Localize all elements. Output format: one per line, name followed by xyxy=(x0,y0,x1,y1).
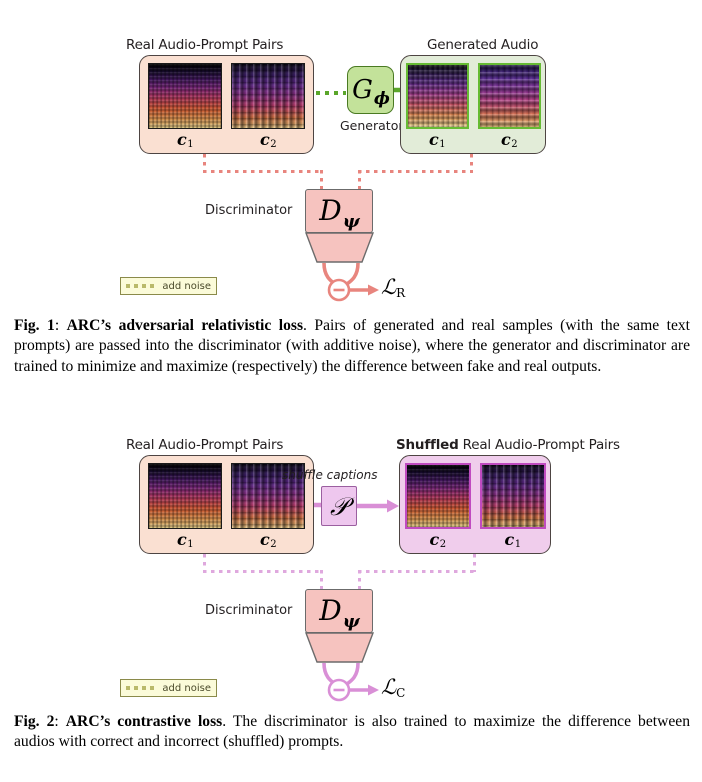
fig2-shuffle-captions-label: shuffle captions xyxy=(282,468,377,482)
generator-glyph: Gϕ xyxy=(352,77,389,103)
fig1-connector-left-rail xyxy=(203,170,323,173)
fig1-real-cell-2: c2 xyxy=(231,63,305,148)
spectrogram-icon xyxy=(148,463,222,529)
fig1-legend-text: add noise xyxy=(162,281,211,292)
fig1-generator-caption: Generator xyxy=(340,118,403,133)
fig2-permute-output-arrow xyxy=(357,498,403,514)
figure-2-caption: Fig. 2: ARC’s contrastive loss. The disc… xyxy=(14,712,690,753)
fig1-generated-cell-2-label: c2 xyxy=(501,132,517,148)
fig2-loss-operator xyxy=(325,678,385,702)
spectrogram-icon xyxy=(148,63,222,129)
fig1-discriminator-funnel xyxy=(300,232,380,264)
spectrogram-icon xyxy=(406,63,469,129)
fig2-add-noise-legend: add noise xyxy=(120,679,217,697)
figure-1-caption: Fig. 1: ARC’s adversarial relativistic l… xyxy=(14,316,690,377)
fig1-generated-cell-1-label: c1 xyxy=(429,132,445,148)
fig2-permute-box: 𝒫 xyxy=(321,486,357,526)
fig1-generator-box: Gϕ xyxy=(347,66,394,114)
spectrogram-icon xyxy=(480,463,546,529)
fig2-shuffled-spectrogram-row: c2 c1 xyxy=(405,463,546,548)
fig2-discriminator-box: Dψ xyxy=(305,589,373,633)
spectrogram-icon xyxy=(478,63,541,129)
fig2-connector-left-into-disc xyxy=(320,570,323,590)
fig1-real-spectrogram-row: c1 c2 xyxy=(148,63,305,148)
fig1-generated-spectrogram-row: c1 c2 xyxy=(406,63,541,148)
fig1-discriminator-label: Discriminator xyxy=(205,203,292,218)
fig1-generated-audio-panel: c1 c2 xyxy=(400,55,546,154)
fig1-generated-panel-heading: Generated Audio xyxy=(427,37,538,53)
fig1-loss-label: ℒR xyxy=(381,277,405,298)
fig2-real-cell-1-label: c1 xyxy=(177,532,193,548)
fig2-shuffled-audio-prompt-panel: c2 c1 xyxy=(399,455,551,554)
dotted-line-icon xyxy=(126,686,157,690)
fig2-connector-right-into-disc xyxy=(358,570,361,590)
fig2-shuffled-cell-1: c2 xyxy=(405,463,471,548)
fig1-real-panel-heading: Real Audio-Prompt Pairs xyxy=(126,37,283,53)
fig1-loss-operator xyxy=(325,278,385,302)
fig1-connector-right-rail xyxy=(358,170,473,173)
fig1-generator-input-arrow xyxy=(316,88,350,98)
discriminator-glyph: Dψ xyxy=(319,197,358,225)
fig2-connector-right-rail xyxy=(358,570,476,573)
fig1-connector-left-into-disc xyxy=(320,170,323,190)
fig1-generated-cell-1: c1 xyxy=(406,63,469,148)
fig2-real-panel-heading: Real Audio-Prompt Pairs xyxy=(126,437,283,453)
fig2-shuffled-cell-2: c1 xyxy=(480,463,546,548)
fig2-shuffled-panel-heading: Shuffled Real Audio-Prompt Pairs xyxy=(396,437,620,453)
figure-2: Real Audio-Prompt Pairs c1 c2 shuff xyxy=(0,430,702,710)
fig1-add-noise-legend: add noise xyxy=(120,277,217,295)
fig2-real-cell-2-label: c2 xyxy=(260,532,276,548)
fig1-real-cell-1: c1 xyxy=(148,63,222,148)
fig2-legend-text: add noise xyxy=(162,683,211,694)
fig1-real-cell-2-label: c2 xyxy=(260,132,276,148)
fig2-discriminator-funnel xyxy=(300,632,380,664)
discriminator-glyph: Dψ xyxy=(319,597,358,625)
fig2-shuffled-cell-2-label: c1 xyxy=(504,532,520,548)
fig1-discriminator-box: Dψ xyxy=(305,189,373,233)
fig1-real-audio-prompt-panel: c1 c2 xyxy=(139,55,314,154)
fig1-real-cell-1-label: c1 xyxy=(177,132,193,148)
dotted-line-icon xyxy=(126,284,157,288)
spectrogram-icon xyxy=(405,463,471,529)
fig2-loss-label: ℒC xyxy=(381,677,405,698)
fig2-real-cell-1: c1 xyxy=(148,463,222,548)
fig2-connector-left-rail xyxy=(203,570,323,573)
permutation-glyph: 𝒫 xyxy=(330,494,348,519)
figure-1: Real Audio-Prompt Pairs c1 c2 xyxy=(0,0,702,310)
fig2-shuffled-cell-1-label: c2 xyxy=(429,532,445,548)
fig2-discriminator-label: Discriminator xyxy=(205,603,292,618)
fig1-connector-right-into-disc xyxy=(358,170,361,190)
fig1-generated-cell-2: c2 xyxy=(478,63,541,148)
spectrogram-icon xyxy=(231,63,305,129)
